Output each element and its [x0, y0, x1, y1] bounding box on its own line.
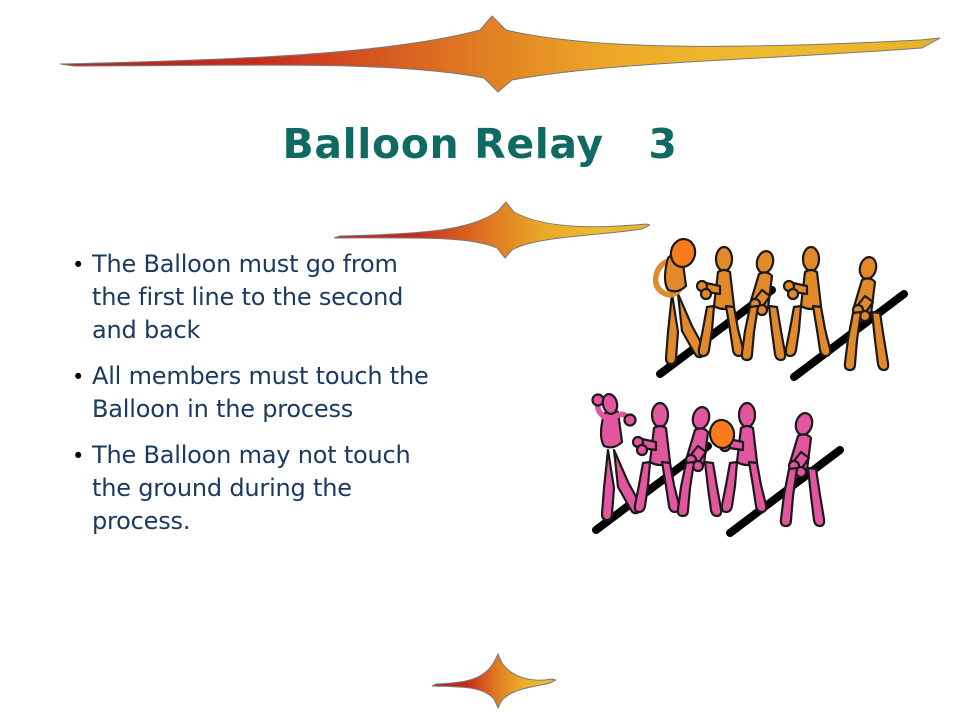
- stick-figure: [784, 247, 830, 356]
- list-item: • All members must touch the Balloon in …: [62, 360, 442, 426]
- bottom-diamond-ornament: [432, 652, 556, 710]
- bullet-text: All members must touch the Balloon in th…: [92, 360, 442, 426]
- list-item: • The Balloon may not touch the ground d…: [62, 439, 442, 538]
- balloon-relay-orange-team-illustration: [652, 232, 908, 382]
- stick-figure: [656, 237, 706, 364]
- bullet-marker-icon: •: [62, 248, 92, 282]
- stick-figure: [593, 393, 642, 520]
- bullet-marker-icon: •: [62, 360, 92, 394]
- bullet-text: The Balloon may not touch the ground dur…: [92, 439, 442, 538]
- slide-canvas: Balloon Relay 3 • The Balloon must go fr…: [0, 0, 960, 720]
- stick-figure: [697, 247, 743, 356]
- bullet-marker-icon: •: [62, 439, 92, 473]
- list-item: • The Balloon must go from the first lin…: [62, 248, 442, 347]
- stick-figure: [633, 403, 679, 512]
- top-diamond-ornament: [60, 8, 940, 94]
- bullet-list: • The Balloon must go from the first lin…: [62, 248, 442, 551]
- bullet-text: The Balloon must go from the first line …: [92, 248, 442, 347]
- page-title: Balloon Relay 3: [0, 120, 960, 168]
- balloon-relay-pink-team-illustration: [588, 388, 844, 538]
